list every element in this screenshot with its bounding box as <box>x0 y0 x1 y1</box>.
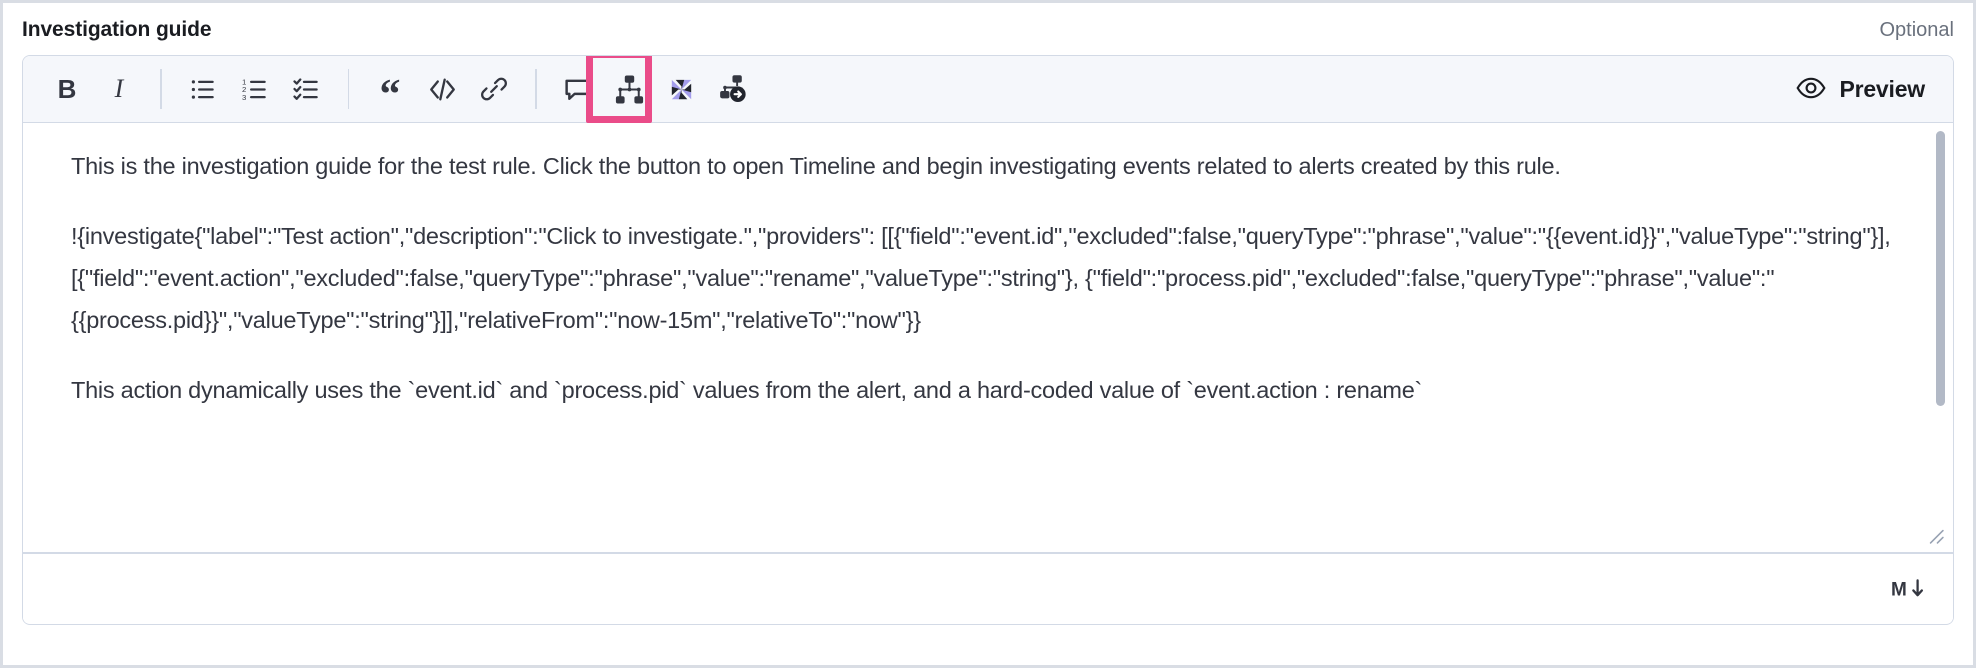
editor-footer: M <box>23 553 1953 623</box>
toolbar-group-text-style: B I <box>41 65 145 113</box>
resize-grip-icon[interactable] <box>1923 523 1945 545</box>
task-list-button[interactable] <box>281 65 333 113</box>
code-icon <box>428 75 457 104</box>
link-button[interactable] <box>468 65 520 113</box>
page-title: Investigation guide <box>22 18 211 42</box>
toolbar-group-lists: 1 2 3 <box>177 65 333 113</box>
bullet-list-icon <box>189 76 216 103</box>
markdown-icon: M <box>1891 576 1929 602</box>
toolbar-divider-2 <box>348 69 350 109</box>
markdown-toolbar: B I <box>23 56 1953 123</box>
quote-button[interactable]: “ <box>364 65 416 113</box>
window-border-left <box>0 0 3 668</box>
svg-text:M: M <box>1891 579 1907 600</box>
preview-label: Preview <box>1839 76 1925 103</box>
timeline-logo-icon <box>666 74 697 105</box>
investigate-button[interactable] <box>708 65 760 113</box>
guide-paragraph-intro: This is the investigation guide for the … <box>71 145 1909 187</box>
italic-icon: I <box>115 74 124 104</box>
investigation-guide-screen: Investigation guide Optional B I <box>0 0 1976 668</box>
markdown-content[interactable]: This is the investigation guide for the … <box>23 123 1953 623</box>
guide-paragraph-explanation: This action dynamically uses the `event.… <box>71 369 1909 411</box>
optional-badge: Optional <box>1880 19 1955 42</box>
code-button[interactable] <box>416 65 468 113</box>
field-label-row: Investigation guide Optional <box>22 10 1954 50</box>
guide-paragraph-investigate-syntax: !{investigate{"label":"Test action","des… <box>71 215 1909 341</box>
unordered-list-button[interactable] <box>177 65 229 113</box>
comment-icon <box>563 75 592 104</box>
eye-icon <box>1796 73 1826 106</box>
link-icon <box>480 75 508 103</box>
toolbar-divider-1 <box>160 69 162 109</box>
add-comment-button[interactable] <box>552 65 604 113</box>
analyzer-icon <box>615 75 644 104</box>
insert-timeline-button[interactable] <box>656 65 708 113</box>
bold-button[interactable]: B <box>41 65 93 113</box>
vertical-scrollbar-thumb[interactable] <box>1936 131 1945 406</box>
checklist-icon <box>293 76 320 103</box>
toolbar-divider-3 <box>535 69 537 109</box>
markdown-editor-panel: B I <box>22 55 1954 625</box>
bold-icon: B <box>58 74 77 105</box>
preview-button[interactable]: Preview <box>1790 67 1935 112</box>
quote-icon: “ <box>380 85 401 106</box>
toolbar-group-security-plugins <box>552 65 760 113</box>
ordered-list-button[interactable]: 1 2 3 <box>229 65 281 113</box>
markdown-textarea[interactable]: This is the investigation guide for the … <box>23 123 1953 623</box>
insert-analyzer-button[interactable] <box>604 65 656 113</box>
investigate-icon <box>719 75 748 104</box>
toolbar-group-blocks: “ <box>364 65 520 113</box>
numbered-list-icon: 1 2 3 <box>241 76 268 103</box>
svg-text:3: 3 <box>242 92 246 101</box>
italic-button[interactable]: I <box>93 65 145 113</box>
window-border-top <box>0 0 1976 3</box>
